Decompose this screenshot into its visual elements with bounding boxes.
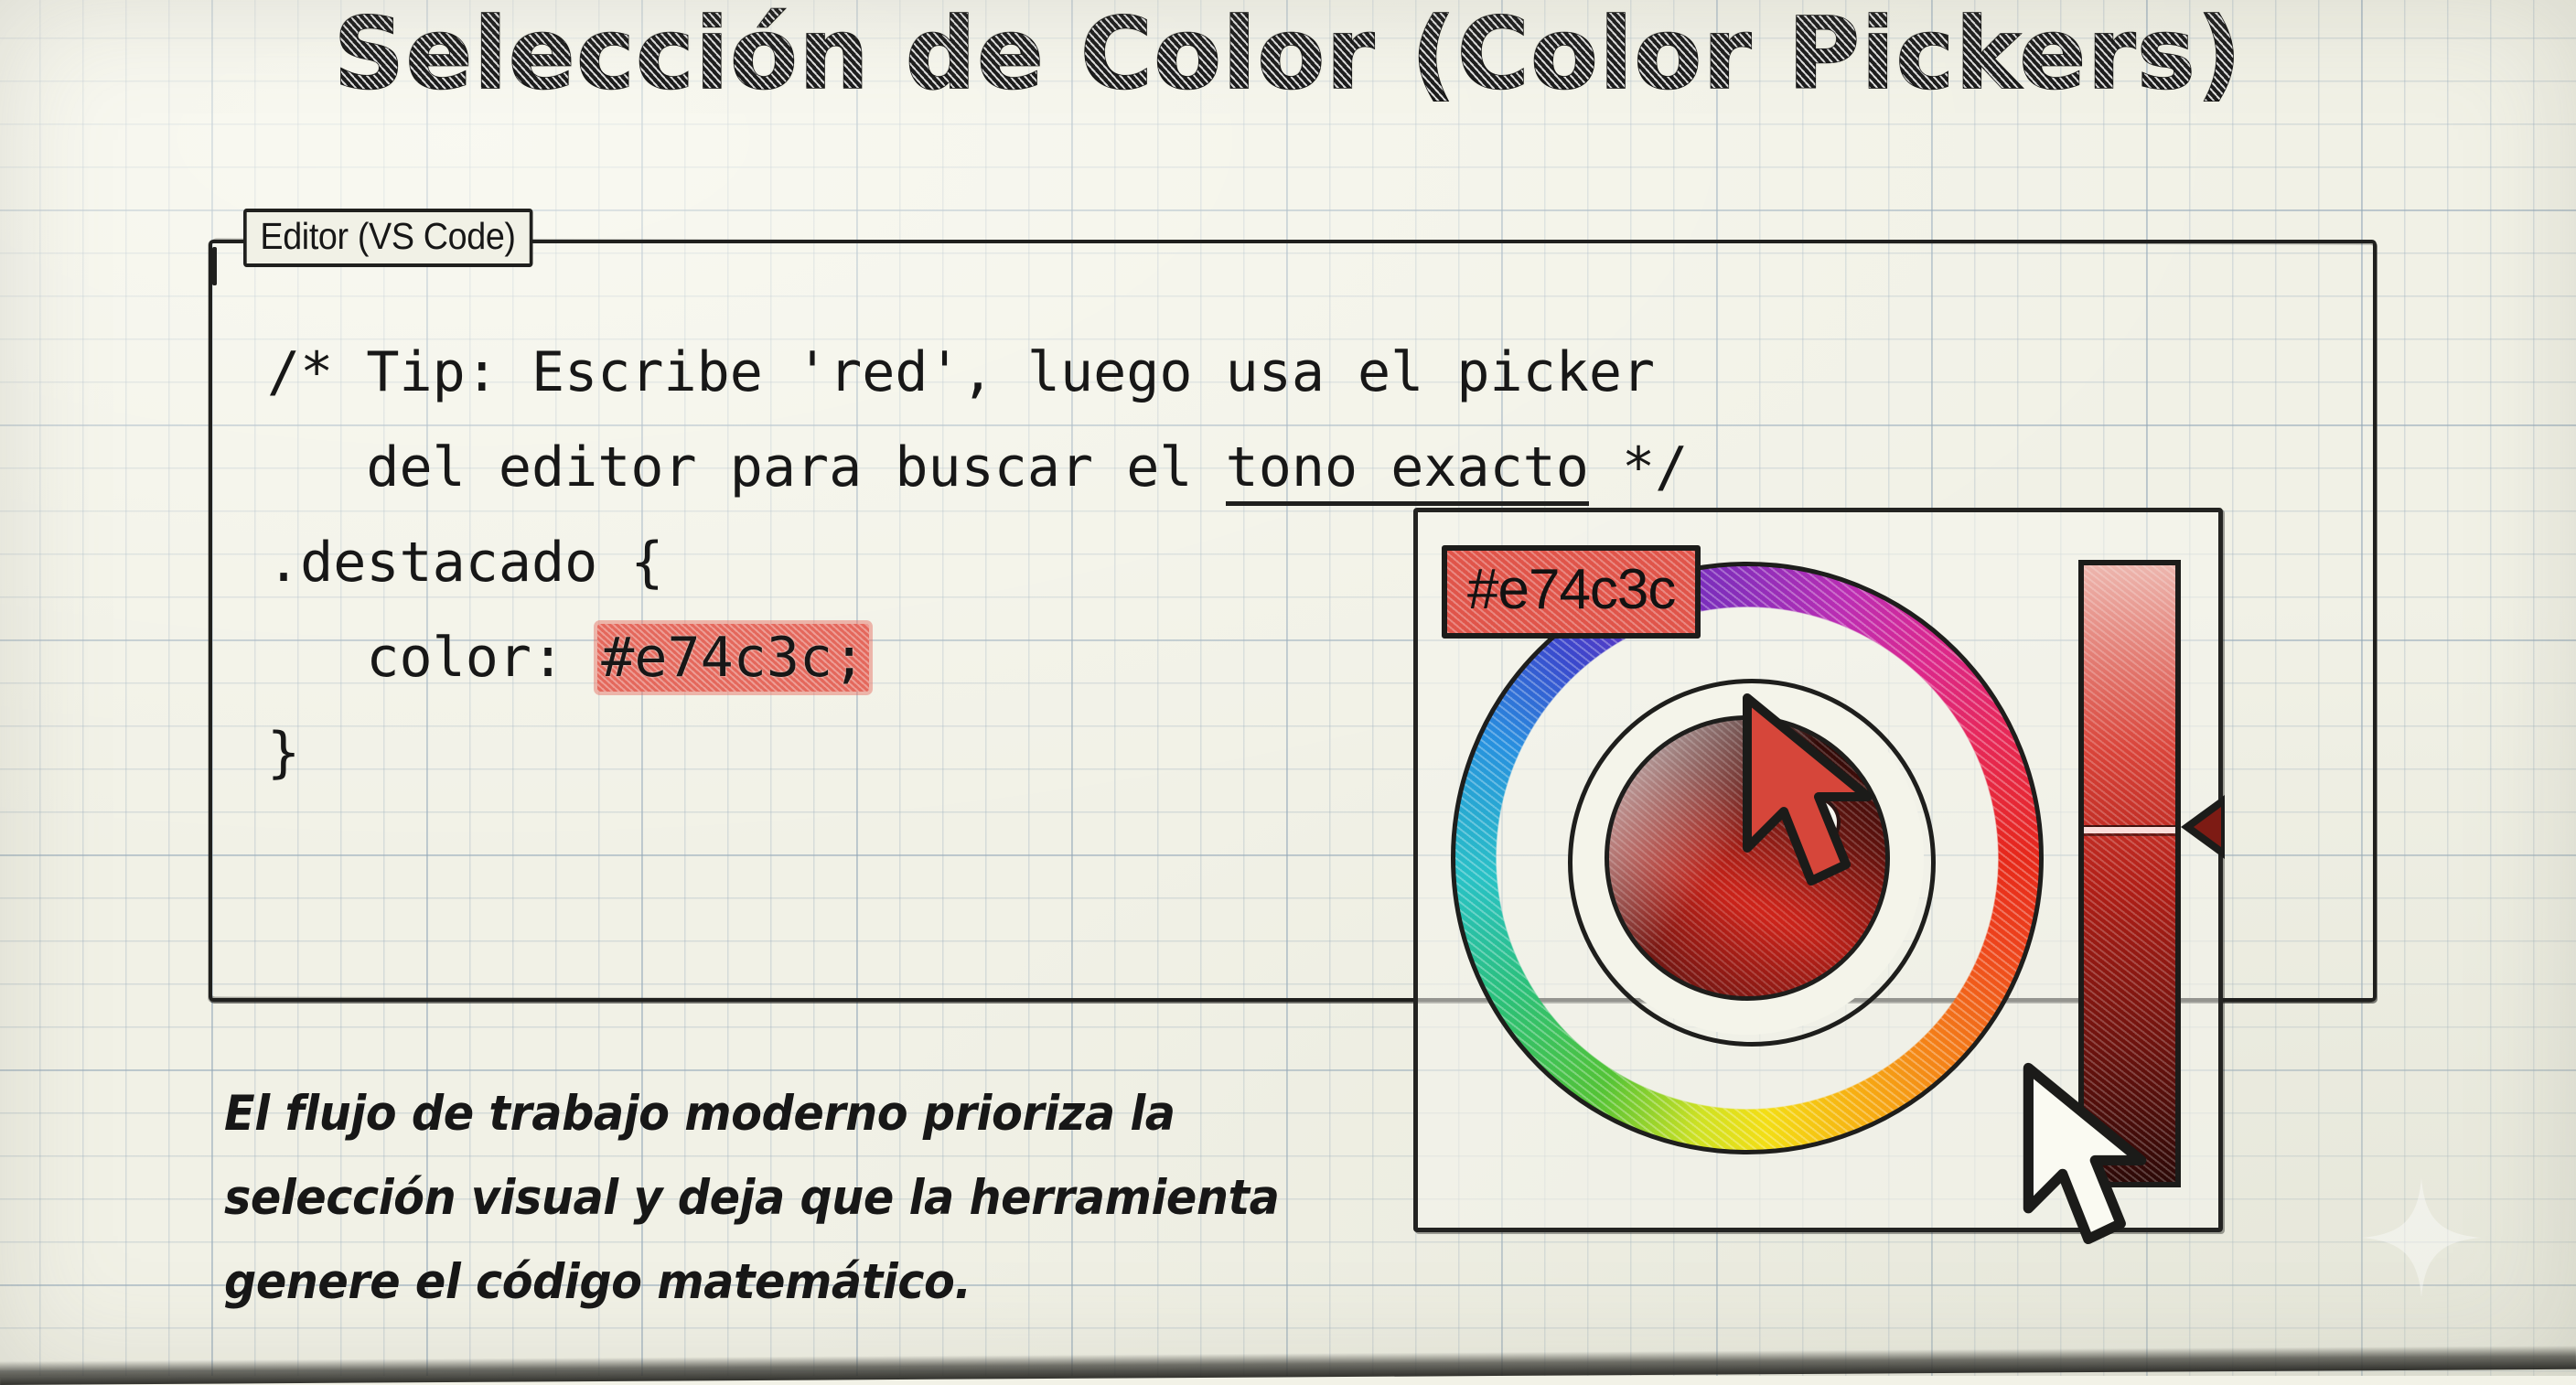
code-line-property: color: xyxy=(267,626,597,690)
mouse-cursor-on-wheel-icon xyxy=(1722,691,1895,901)
code-color-value-highlight[interactable]: #e74c3c; xyxy=(597,624,869,692)
caption-text: El flujo de trabajo moderno prioriza la … xyxy=(224,1072,1356,1325)
caption-line-1: El flujo de trabajo moderno prioriza la xyxy=(224,1072,1356,1156)
editor-tab-connector xyxy=(212,247,217,285)
mouse-cursor-on-ring-icon xyxy=(2003,1061,2168,1258)
brightness-slider-value-line xyxy=(2084,827,2175,833)
caption-line-2: selección visual y deja que la herramien… xyxy=(224,1156,1356,1240)
caption-line-3: genere el código matemático. xyxy=(224,1240,1356,1325)
code-line-comment-2c: */ xyxy=(1589,435,1688,499)
code-line-comment-1: /* Tip: Escribe 'red', luego usa el pick… xyxy=(267,340,1655,404)
code-line-close-brace: } xyxy=(267,721,300,785)
code-line-comment-2a: del editor para buscar el xyxy=(267,435,1226,499)
editor-tab-label[interactable]: Editor (VS Code) xyxy=(243,209,532,267)
page-title: Selección de Color (Color Pickers) xyxy=(0,5,2576,104)
code-underlined-phrase: tono exacto xyxy=(1226,435,1589,506)
color-picker-panel[interactable]: #e74c3c xyxy=(1413,508,2223,1232)
brightness-slider-thumb-fill xyxy=(2194,807,2221,847)
code-line-selector: .destacado { xyxy=(267,531,663,595)
color-value-badge: #e74c3c xyxy=(1442,545,1701,639)
